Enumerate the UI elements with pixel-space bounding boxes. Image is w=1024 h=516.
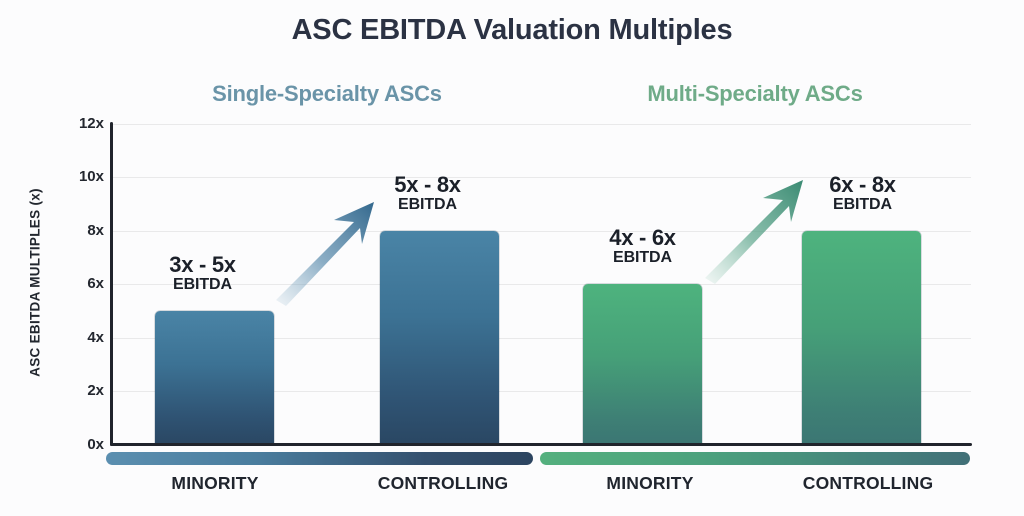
y-tick-12x: 12x [62, 115, 104, 132]
value-range-single-minority: 3x - 5x [95, 253, 310, 276]
group-band-multi-specialty [540, 452, 970, 465]
value-unit-single-controlling: EBITDA [320, 196, 535, 214]
page-title: ASC EBITDA Valuation Multiples [0, 14, 1024, 47]
bar-single-controlling[interactable] [380, 231, 499, 444]
y-tick-8x: 8x [62, 222, 104, 239]
y-tick-0x: 0x [62, 436, 104, 453]
value-unit-multi-minority: EBITDA [535, 249, 750, 267]
value-unit-multi-controlling: EBITDA [755, 196, 970, 214]
category-label-multi-controlling: CONTROLLING [748, 473, 988, 494]
group-subtitle-multi-specialty: Multi-Specialty ASCs [540, 81, 970, 107]
y-tick-10x: 10x [62, 168, 104, 185]
value-range-single-controlling: 5x - 8x [320, 173, 535, 196]
bar-single-minority[interactable] [155, 311, 274, 444]
gridline-12x [112, 124, 971, 125]
category-label-single-controlling: CONTROLLING [323, 473, 563, 494]
chart-container: ASC EBITDA Valuation Multiples Single-Sp… [0, 0, 1024, 516]
value-unit-single-minority: EBITDA [95, 276, 310, 294]
category-label-single-minority: MINORITY [110, 473, 320, 494]
group-band-single-specialty [106, 452, 533, 465]
y-tick-2x: 2x [62, 382, 104, 399]
category-label-multi-minority: MINORITY [545, 473, 755, 494]
value-label-multi-minority: 4x - 6x EBITDA [535, 226, 750, 267]
value-range-multi-controlling: 6x - 8x [755, 173, 970, 196]
y-tick-4x: 4x [62, 329, 104, 346]
value-label-single-controlling: 5x - 8x EBITDA [320, 173, 535, 214]
group-subtitle-single-specialty: Single-Specialty ASCs [112, 81, 542, 107]
bar-multi-controlling[interactable] [802, 231, 921, 444]
x-axis-line [110, 443, 972, 446]
value-label-single-minority: 3x - 5x EBITDA [95, 253, 310, 294]
value-range-multi-minority: 4x - 6x [535, 226, 750, 249]
y-axis-title: ASC EBITDA MULTIPLES (x) [28, 133, 43, 433]
bar-multi-minority[interactable] [583, 284, 702, 444]
value-label-multi-controlling: 6x - 8x EBITDA [755, 173, 970, 214]
